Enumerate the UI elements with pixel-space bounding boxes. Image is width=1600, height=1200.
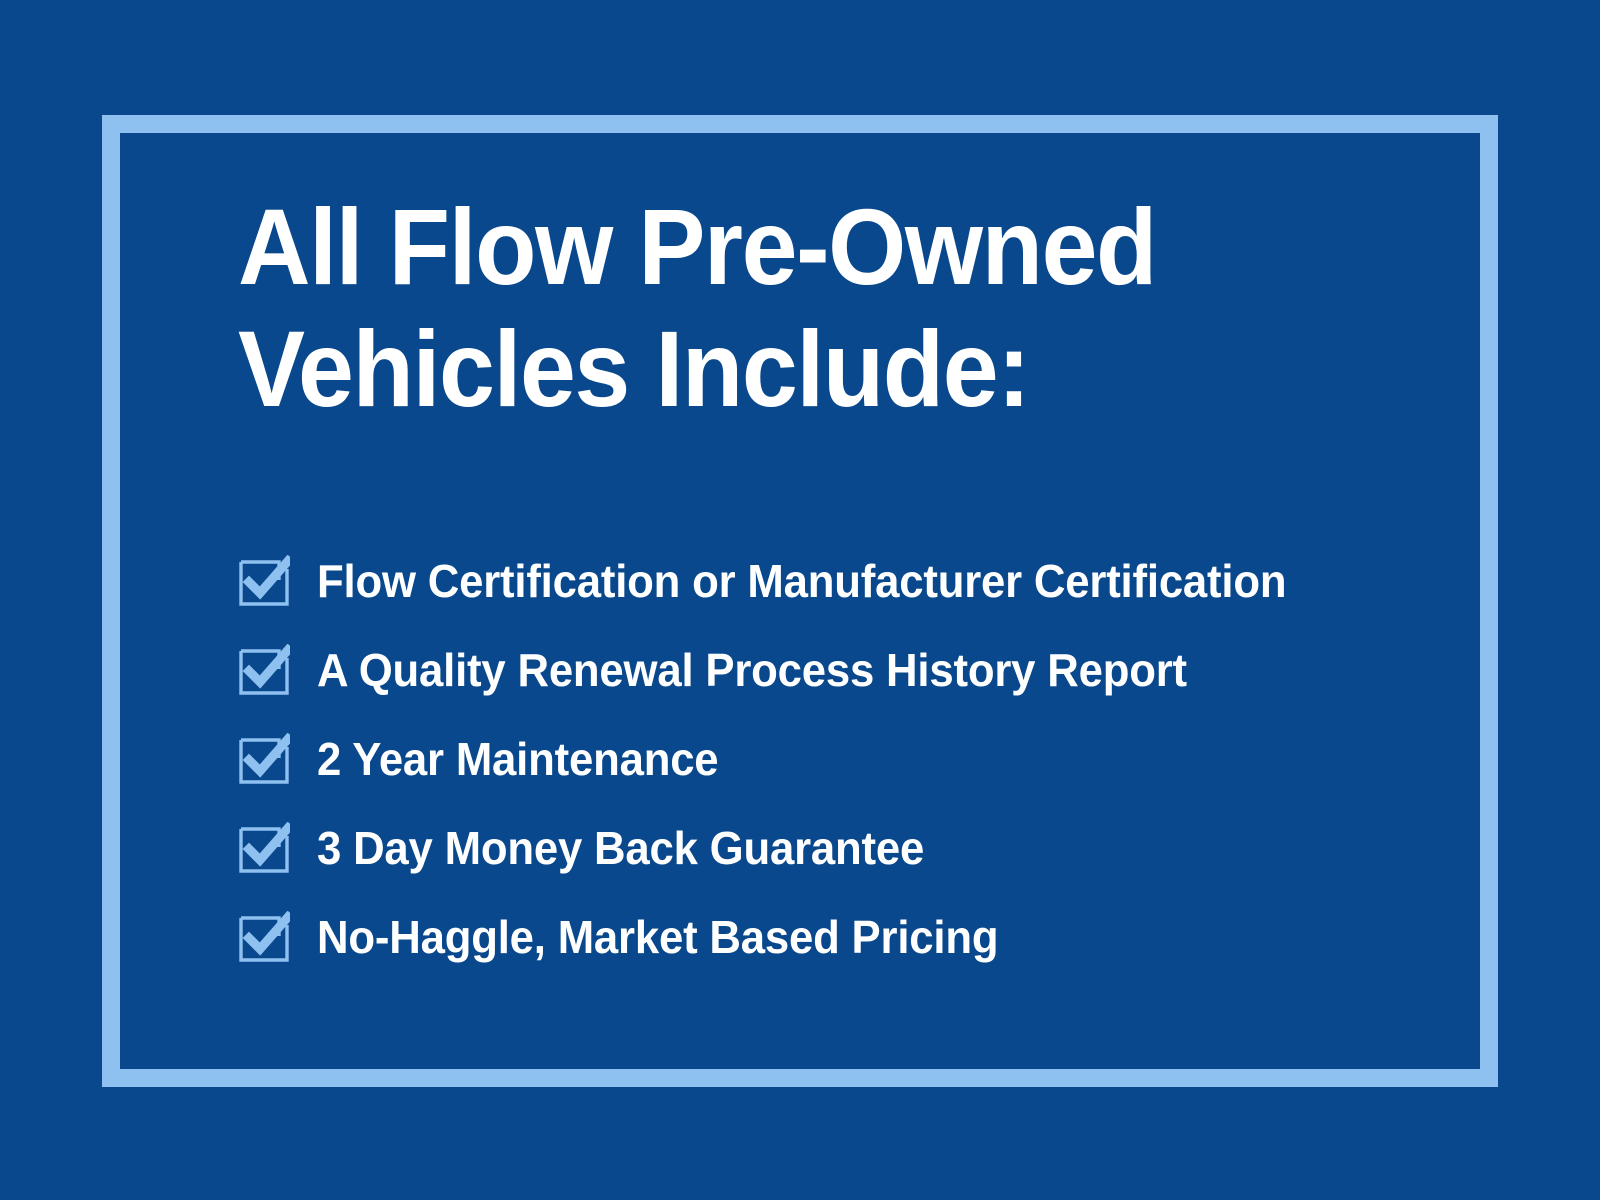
list-item: 3 Day Money Back Guarantee: [238, 803, 1448, 892]
checked-checkbox-icon: [238, 733, 290, 785]
list-item: No-Haggle, Market Based Pricing: [238, 892, 1448, 981]
checked-checkbox-icon: [238, 822, 290, 874]
list-item-label: 3 Day Money Back Guarantee: [317, 823, 924, 873]
list-item: 2 Year Maintenance: [238, 714, 1448, 803]
promo-poster: All Flow Pre-Owned Vehicles Include: Flo…: [0, 0, 1600, 1200]
checked-checkbox-icon: [238, 644, 290, 696]
list-item-label: No-Haggle, Market Based Pricing: [317, 912, 998, 962]
checked-checkbox-icon: [238, 555, 290, 607]
list-item: A Quality Renewal Process History Report: [238, 625, 1448, 714]
page-title: All Flow Pre-Owned Vehicles Include:: [238, 186, 1363, 430]
poster-content: All Flow Pre-Owned Vehicles Include: Flo…: [238, 186, 1448, 430]
checked-checkbox-icon: [238, 911, 290, 963]
list-item-label: A Quality Renewal Process History Report: [317, 645, 1187, 695]
list-item: Flow Certification or Manufacturer Certi…: [238, 536, 1448, 625]
list-item-label: Flow Certification or Manufacturer Certi…: [317, 556, 1286, 606]
list-item-label: 2 Year Maintenance: [317, 734, 718, 784]
benefits-checklist: Flow Certification or Manufacturer Certi…: [238, 536, 1448, 981]
